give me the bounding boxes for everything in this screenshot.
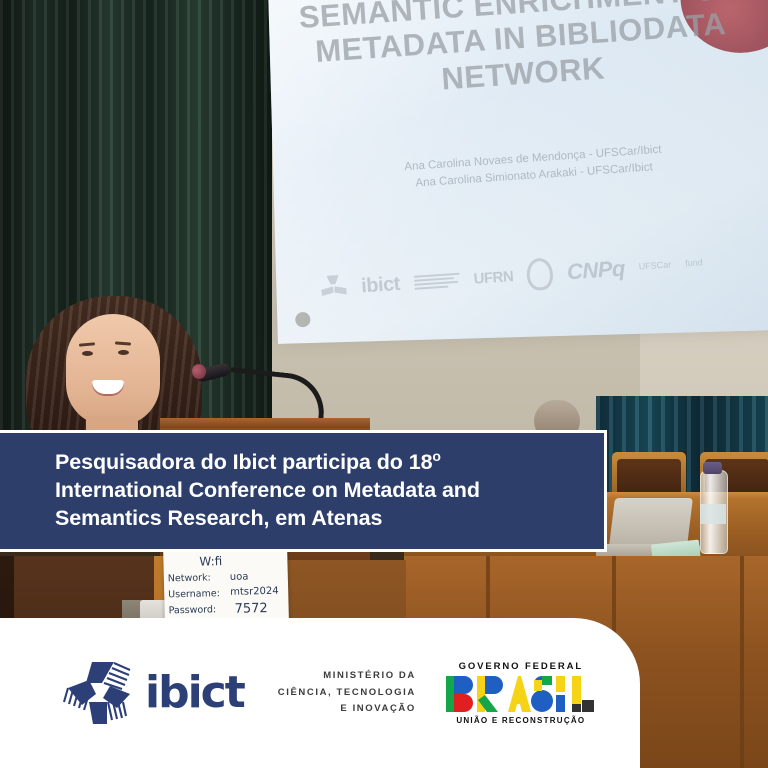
slide-sponsor-ufrn: UFRN [473, 268, 514, 288]
news-card: SEMANTIC ENRICHMENT OF METADATA IN BIBLI… [0, 0, 768, 768]
ibict-mark-icon [320, 274, 348, 302]
wifi-username-label: Username: [168, 588, 220, 600]
projection-screen: SEMANTIC ENRICHMENT OF METADATA IN BIBLI… [268, 0, 768, 344]
footer-bar: ibict MINISTÉRIO DA CIÊNCIA, TECNOLOGIA … [0, 618, 640, 768]
ministry-line-3: E INOVAÇÃO [278, 701, 416, 718]
slide-sponsor-fund: fund [685, 258, 703, 270]
water-bottle-cap [703, 462, 722, 474]
ministry-line-2: CIÊNCIA, TECNOLOGIA [278, 685, 416, 702]
slide-title: SEMANTIC ENRICHMENT OF METADATA IN BIBLI… [292, 0, 750, 106]
ibict-logo[interactable]: ibict [62, 658, 244, 728]
speaker-eye-right [118, 350, 129, 355]
slide-sponsor-textblock [413, 273, 460, 290]
water-bottle-label [700, 504, 726, 524]
wifi-sign-title: W:fi [199, 554, 222, 569]
wifi-network-value: uoa [230, 571, 249, 582]
headline-line-1: Pesquisadora do Ibict participa do 18 [55, 450, 432, 474]
footer-logo-row: ibict MINISTÉRIO DA CIÊNCIA, TECNOLOGIA … [0, 618, 640, 768]
headline-banner: Pesquisadora do Ibict participa do 18o I… [0, 430, 607, 552]
ibict-pinwheel-icon [62, 658, 136, 728]
cnpq-ring-icon [526, 257, 554, 291]
slide-sponsor-logos: ibict UFRN CNPq UFSCar fund [320, 233, 768, 313]
slide-sponsor-cnpq: CNPq [566, 256, 626, 286]
speaker-eye-left [82, 351, 93, 356]
slide-sponsor-ufscar: UFSCar [638, 260, 671, 273]
wifi-username-value: mtsr2024 [230, 586, 279, 598]
headline-line-3: Semantics Research, em Atenas [55, 506, 382, 530]
laptop-screen [609, 498, 693, 546]
ministry-block: MINISTÉRIO DA CIÊNCIA, TECNOLOGIA E INOV… [278, 668, 416, 718]
brasil-wordmark [446, 676, 596, 712]
governo-federal-logo[interactable]: GOVERNO FEDERAL [446, 661, 596, 725]
headline-line-2: International Conference on Metadata and [55, 478, 480, 502]
wifi-network-label: Network: [168, 572, 211, 584]
ministry-line-1: MINISTÉRIO DA [278, 668, 416, 685]
panel-seam-3 [740, 556, 744, 768]
governo-federal-label: GOVERNO FEDERAL [446, 661, 596, 672]
ibict-wordmark: ibict [145, 671, 244, 715]
speaker-face [66, 314, 160, 426]
headline-ordinal: o [432, 448, 440, 464]
slide-content: SEMANTIC ENRICHMENT OF METADATA IN BIBLI… [261, 0, 768, 354]
wifi-password-value: 7572 [234, 601, 267, 617]
headline-text: Pesquisadora do Ibict participa do 18o I… [55, 447, 586, 533]
wifi-sign: W:fi Network: uoa Username: mtsr2024 Pas… [163, 546, 289, 621]
slide-authors: Ana Carolina Novaes de Mendonça - UFSCar… [333, 137, 734, 199]
wifi-password-label: Password: [169, 604, 217, 616]
slide-sponsor-ibict: ibict [360, 272, 400, 298]
governo-federal-tagline: UNIÃO E RECONSTRUÇÃO [446, 716, 596, 725]
